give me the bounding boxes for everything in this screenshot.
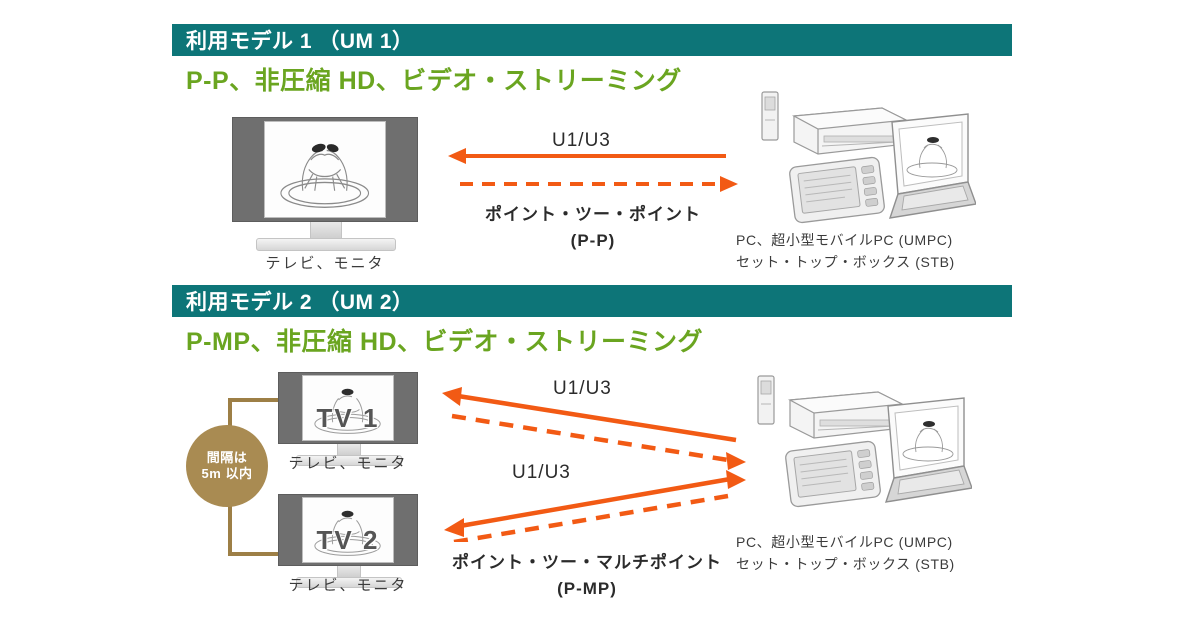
um1-link-caption-line1: ポイント・ツー・ポイント	[448, 202, 738, 228]
um2-device-caption-line1: PC、超小型モバイルPC (UMPC)	[736, 532, 955, 554]
um2-link-caption-line2: (P-MP)	[432, 576, 742, 602]
um2-tv1-caption: テレビ、モニタ	[268, 452, 428, 473]
um2-header-label: 利用モデル 2 （UM 2）	[186, 286, 414, 316]
tv-base	[256, 238, 396, 251]
um2-device-caption: PC、超小型モバイルPC (UMPC) セット・トップ・ボックス (STB)	[736, 532, 955, 575]
tv-bezel: TV 1	[278, 372, 418, 444]
um1-subtitle: P-P、非圧縮 HD、ビデオ・ストリーミング	[186, 61, 682, 97]
um1-link-caption-line2: (P-P)	[448, 228, 738, 254]
um2-television-2: TV 2	[278, 494, 418, 566]
um1-link-arrows	[448, 146, 738, 194]
um1-tv-caption: テレビ、モニタ	[232, 252, 418, 273]
tv-bezel: TV 2	[278, 494, 418, 566]
um2-tv2-caption: テレビ、モニタ	[268, 574, 428, 595]
um1-header-bar: 利用モデル 1 （UM 1）	[172, 24, 1012, 56]
um1-device-caption-line1: PC、超小型モバイルPC (UMPC)	[736, 230, 955, 252]
um2-header-bar: 利用モデル 2 （UM 2）	[172, 285, 1012, 317]
tv-screen: TV 1	[302, 375, 393, 441]
arrowhead-tv1-left	[442, 387, 462, 406]
arrowhead-tv2-right	[726, 470, 746, 489]
tv-screen	[264, 121, 385, 218]
arrowhead-right	[720, 176, 738, 192]
usb-stick-icon	[758, 376, 774, 424]
um2-link-caption-line1: ポイント・ツー・マルチポイント	[432, 550, 742, 576]
tv-screen: TV 2	[302, 497, 393, 563]
diagram-canvas: 利用モデル 1 （UM 1） P-P、非圧縮 HD、ビデオ・ストリーミング	[0, 0, 1200, 630]
distance-badge-line1: 間隔は	[207, 450, 248, 466]
um2-tv2-overlay-label: TV 2	[303, 525, 392, 556]
sumo-wrestlers-icon	[265, 122, 384, 217]
um1-link-caption: ポイント・ツー・ポイント (P-P)	[448, 202, 738, 253]
um2-device-caption-line2: セット・トップ・ボックス (STB)	[736, 554, 955, 576]
handheld-device-icon	[785, 441, 881, 508]
handheld-device-icon	[789, 157, 885, 224]
um1-television	[232, 117, 418, 222]
tv-neck	[310, 222, 342, 238]
um1-header-label: 利用モデル 1 （UM 1）	[186, 25, 414, 55]
tv-bezel	[232, 117, 418, 222]
um1-device-caption-line2: セット・トップ・ボックス (STB)	[736, 252, 955, 274]
laptop-icon	[886, 398, 972, 502]
um2-subtitle: P-MP、非圧縮 HD、ビデオ・ストリーミング	[186, 322, 703, 358]
arrowhead-tv2-left	[444, 518, 464, 537]
usb-stick-icon	[762, 92, 778, 140]
arrowhead-left	[448, 148, 466, 164]
distance-badge-line2: 5m 以内	[202, 466, 253, 482]
um1-device-caption: PC、超小型モバイルPC (UMPC) セット・トップ・ボックス (STB)	[736, 230, 955, 273]
set-top-box-icon	[794, 108, 906, 154]
distance-badge: 間隔は 5m 以内	[186, 425, 268, 507]
arrowhead-tv1-right	[726, 452, 746, 470]
um2-link-arrows	[438, 382, 748, 542]
um2-link-caption: ポイント・ツー・マルチポイント (P-MP)	[432, 550, 742, 601]
um2-device-cluster	[752, 372, 972, 512]
um2-television-1: TV 1	[278, 372, 418, 444]
um2-tv1-overlay-label: TV 1	[303, 403, 392, 434]
set-top-box-icon	[790, 392, 902, 438]
um1-device-cluster	[756, 88, 976, 228]
laptop-icon	[890, 114, 976, 218]
